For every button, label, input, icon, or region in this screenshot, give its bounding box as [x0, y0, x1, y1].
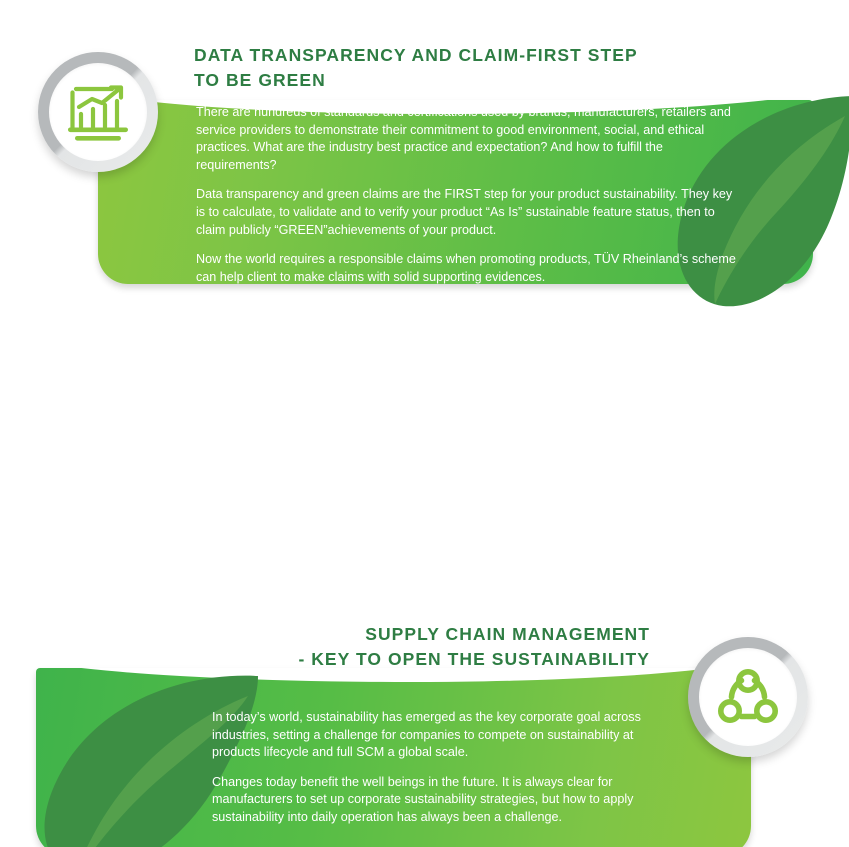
- bar-chart-growth-icon: [66, 81, 130, 143]
- paragraph: There are hundreds of standards and cert…: [196, 104, 741, 174]
- section-product-life-cycle: PRODUCT LIFE-CYCLE MANAGEMENT - LOW CARB…: [0, 590, 849, 847]
- body-text-data-transparency: There are hundreds of standards and cert…: [196, 104, 741, 286]
- paragraph: Data transparency and green claims are t…: [196, 186, 741, 239]
- paragraph: Now the world requires a responsible cla…: [196, 251, 741, 286]
- section-heading-data-transparency: DATA TRANSPARENCY AND CLAIM-FIRST STEP T…: [194, 43, 714, 93]
- infographic-page: DATA TRANSPARENCY AND CLAIM-FIRST STEP T…: [0, 0, 849, 847]
- section-data-transparency: DATA TRANSPARENCY AND CLAIM-FIRST STEP T…: [0, 0, 849, 300]
- icon-badge-data-transparency: [38, 52, 158, 172]
- section-supply-chain-management: SUPPLY CHAIN MANAGEMENT - KEY TO OPEN TH…: [0, 300, 849, 590]
